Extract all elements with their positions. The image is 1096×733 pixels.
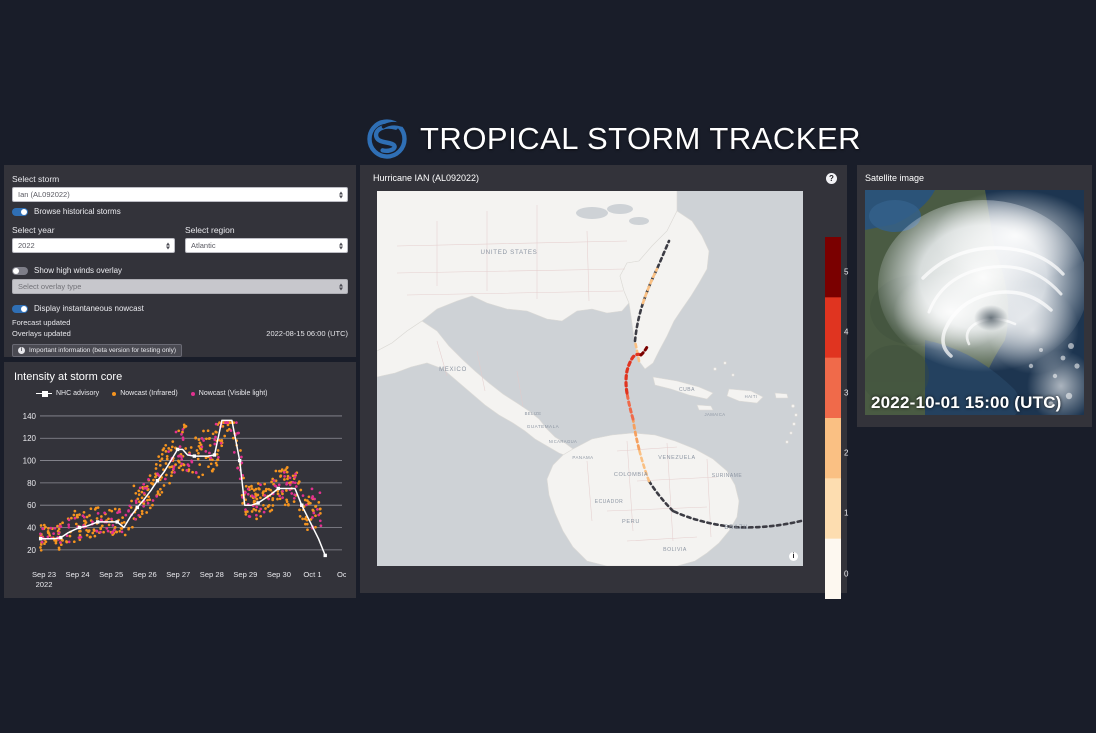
data-point [121,531,124,534]
data-point [110,510,113,513]
colorbar-bands [825,237,841,599]
app-root: TROPICAL STORM TRACKER Select storm Ian … [0,0,1096,733]
y-tick-label: 40 [27,524,36,533]
data-point [286,471,289,474]
legend-label-nowcast-infrared: Nowcast (Infrared) [120,390,178,397]
data-point [143,487,146,490]
data-point [289,476,292,479]
data-point [179,445,182,448]
data-point [216,453,219,456]
data-point [213,443,216,446]
data-point [314,526,317,529]
data-point [181,431,184,434]
data-point [251,510,254,513]
chart-y-axis-labels: 20406080100120140 [23,412,37,555]
data-point [138,493,141,496]
chart-x-axis-labels: Sep 23Sep 24Sep 25Sep 26Sep 27Sep 28Sep … [32,570,346,589]
data-point [88,529,91,532]
data-point [105,527,108,530]
data-point [239,449,242,452]
data-point [157,455,160,458]
colorbar-tick: 1 [844,509,848,518]
data-point [297,482,300,485]
data-point [208,437,211,440]
nowcast-label: Display instantaneous nowcast [34,304,144,313]
data-point [295,485,298,488]
data-point [107,517,110,520]
data-point [230,429,233,432]
nhc-advisory-marker [213,453,216,456]
data-point [99,527,102,530]
data-point [134,492,137,495]
nhc-advisory-marker [193,454,196,457]
data-point [155,467,158,470]
data-point [131,526,134,529]
data-point [181,469,184,472]
data-point [306,528,309,531]
data-point [301,518,304,521]
data-point [207,429,210,432]
svg-text:GUATEMALA: GUATEMALA [527,424,560,429]
select-year-dropdown[interactable]: 2022 [12,238,175,253]
data-point [142,483,145,486]
data-point [246,510,249,513]
y-tick-label: 20 [27,546,36,555]
select-region-dropdown[interactable]: Atlantic [185,238,348,253]
data-point [74,510,77,513]
data-point [76,514,79,517]
stepper-arrows-icon [339,283,343,290]
data-point [162,449,165,452]
data-point [220,444,223,447]
colorbar-band [825,418,841,479]
data-point [182,436,185,439]
data-point [172,468,175,471]
data-point [89,536,92,539]
data-point [78,513,81,516]
select-overlay-type-value: Select overlay type [18,282,81,291]
data-point [183,424,186,427]
svg-text:CUBA: CUBA [679,387,695,393]
data-point [175,431,178,434]
data-point [195,471,198,474]
data-point [78,536,81,539]
data-point [262,490,265,493]
legend-item-nhc-advisory[interactable]: NHC advisory [36,390,99,397]
data-point [311,488,314,491]
data-point [287,504,290,507]
data-point [311,509,314,512]
data-point [319,491,322,494]
nhc-advisory-marker [136,506,139,509]
data-point [124,534,127,537]
intensity-chart-panel: Intensity at storm core NHC advisory Now… [4,362,356,598]
data-point [299,489,302,492]
data-point [168,466,171,469]
data-point [111,532,114,535]
data-point [184,447,187,450]
data-point [152,479,155,482]
data-point [70,517,73,520]
data-point [157,490,160,493]
svg-text:VENEZUELA: VENEZUELA [658,455,695,461]
data-point [100,515,103,518]
data-point [58,525,61,528]
data-point [215,462,218,465]
data-point [78,530,81,533]
data-point [268,504,271,507]
storm-swirl-logo-icon [366,118,408,160]
x-axis-year-label: 2022 [36,580,53,589]
data-point [283,475,286,478]
data-point [257,487,260,490]
data-point [251,487,254,490]
data-point [161,457,164,460]
data-point [308,495,311,498]
x-tick-label: Sep 26 [133,570,157,579]
colorbar-band [825,478,841,539]
nhc-advisory-marker [59,536,62,539]
data-point [177,455,180,458]
data-point [58,532,61,535]
chart-title: Intensity at storm core [14,371,346,383]
x-tick-label: Sep 28 [200,570,224,579]
x-tick-label: Sep 25 [99,570,123,579]
data-point [284,468,287,471]
data-point [145,511,148,514]
nhc-advisory-marker [115,520,118,523]
data-point [283,478,286,481]
data-point [198,445,201,448]
data-point [47,527,50,530]
toggle-switch-nowcast[interactable] [12,305,28,313]
data-point [147,478,150,481]
data-point [166,458,169,461]
data-point [197,476,200,479]
data-point [137,514,140,517]
data-point [248,515,251,518]
data-point [141,497,144,500]
satellite-image[interactable]: 2022-10-01 15:00 (UTC) [865,190,1084,415]
data-point [68,541,71,544]
data-point [317,514,320,517]
data-point [165,450,168,453]
data-point [278,494,281,497]
data-point [264,507,267,510]
data-point [59,541,62,544]
data-point [254,493,257,496]
data-point [236,432,239,435]
data-point [281,490,284,493]
data-point [198,463,201,466]
data-point [236,467,239,470]
data-point [209,444,212,447]
data-point [97,512,100,515]
browse-historical-label: Browse historical storms [34,207,121,216]
svg-text:UNITED STATES: UNITED STATES [481,249,538,256]
y-tick-label: 100 [23,457,37,466]
data-point [148,498,151,501]
data-point [123,521,126,524]
data-point [298,509,301,512]
colorbar-tick: 4 [844,328,848,337]
data-point [270,481,273,484]
select-year-label: Select year [12,225,175,235]
data-point [305,504,308,507]
x-tick-label: Sep 30 [267,570,291,579]
data-point [283,471,286,474]
select-year-group: Select year 2022 [12,225,175,253]
satellite-timestamp: 2022-10-01 15:00 (UTC) [871,393,1062,413]
map-header: Hurricane IAN (AL092022) ? [360,165,847,191]
data-point [167,450,170,453]
colorbar-tick: 5 [844,267,848,276]
data-point [292,481,295,484]
svg-text:PANAMA: PANAMA [572,455,593,460]
chart-series-nowcast-infrared [39,421,322,551]
svg-text:BOLIVIA: BOLIVIA [663,547,687,553]
data-point [214,436,217,439]
data-point [114,508,117,511]
colorbar-tick: 0 [844,569,848,578]
svg-text:MEXICO: MEXICO [439,367,467,373]
data-point [217,449,220,452]
data-point [253,500,256,503]
data-point [319,519,322,522]
data-point [202,430,205,433]
data-point [93,529,96,532]
data-point [245,513,248,516]
data-point [47,530,50,533]
data-point [135,501,138,504]
stepper-arrows-icon [339,191,343,198]
data-point [185,469,188,472]
data-point [191,471,194,474]
overlays-updated-row: Overlays updated 2022-08-15 06:00 (UTC) [12,329,348,338]
data-point [271,497,274,500]
data-point [279,497,282,500]
data-point [232,437,235,440]
data-point [209,457,212,460]
data-point [171,446,174,449]
map-canvas[interactable]: UNITED STATES MEXICO CUBA HAITI JAMAICA … [377,191,803,566]
x-tick-label: Oct 2 [337,570,346,579]
data-point [259,515,262,518]
legend-line-marker-icon [36,390,52,397]
x-tick-label: Sep 23 [32,570,56,579]
data-point [205,437,208,440]
nhc-advisory-marker [324,554,327,557]
data-point [201,473,204,476]
y-tick-label: 60 [27,501,36,510]
y-tick-label: 140 [23,412,37,421]
browse-historical-toggle[interactable]: Browse historical storms [12,207,348,216]
svg-text:COLOMBIA: COLOMBIA [614,472,648,478]
data-point [41,527,44,530]
data-point [215,423,218,426]
svg-text:JAMAICA: JAMAICA [705,412,726,417]
data-point [217,456,220,459]
colorbar-band [825,539,841,599]
data-point [278,470,281,473]
data-point [286,478,289,481]
data-point [158,493,161,496]
nhc-advisory-marker [176,448,179,451]
select-region-group: Select region Atlantic [185,225,348,253]
data-point [245,485,248,488]
colorbar-tick: 2 [844,448,848,457]
data-point [180,462,183,465]
high-winds-toggle[interactable]: Show high winds overlay [12,266,348,275]
data-point [69,535,72,538]
map-colorbar: 543210 [825,237,859,599]
data-point [294,481,297,484]
data-point [289,483,292,486]
data-point [65,541,68,544]
data-point [146,499,149,502]
data-point [255,509,258,512]
data-point [58,546,61,549]
legend-label-nowcast-visible: Nowcast (Visible light) [199,390,268,397]
controls-panel: Select storm Ian (AL092022) Browse histo… [4,165,356,357]
data-point [212,432,215,435]
data-point [263,494,266,497]
select-storm-dropdown[interactable]: Ian (AL092022) [12,187,348,202]
data-point [165,462,168,465]
nhc-advisory-marker [39,537,42,540]
data-point [286,500,289,503]
toggle-switch-high-winds[interactable] [12,267,28,275]
data-point [223,435,226,438]
data-point [247,493,250,496]
data-point [164,444,167,447]
intensity-chart[interactable]: 20406080100120140 Sep 23Sep 24Sep 25Sep … [14,401,346,591]
data-point [164,478,167,481]
data-point [178,461,181,464]
data-point [40,549,43,552]
data-point [127,527,130,530]
x-tick-label: Sep 27 [166,570,190,579]
data-point [293,500,296,503]
data-point [101,524,104,527]
data-point [99,531,102,534]
nowcast-toggle[interactable]: Display instantaneous nowcast [12,304,348,313]
data-point [143,492,146,495]
data-point [43,524,46,527]
legend-item-nowcast-infrared[interactable]: Nowcast (Infrared) [112,390,178,397]
data-point [293,493,296,496]
svg-text:PERU: PERU [622,519,640,525]
data-point [242,477,245,480]
data-point [39,546,42,549]
data-point [73,514,76,517]
data-point [138,500,141,503]
data-point [180,458,183,461]
x-tick-label: Oct 1 [303,570,321,579]
data-point [299,515,302,518]
data-point [75,523,78,526]
data-point [102,531,105,534]
data-point [121,522,124,525]
data-point [155,463,158,466]
data-point [275,470,278,473]
data-point [197,458,200,461]
data-point [55,542,58,545]
important-information-button[interactable]: i Important information (beta version fo… [12,344,182,357]
colorbar-band [825,297,841,358]
legend-item-nowcast-visible[interactable]: Nowcast (Visible light) [191,390,268,397]
satellite-panel: Satellite image [857,165,1092,427]
data-point [142,505,145,508]
data-point [159,464,162,467]
forecast-updated-row: Forecast updated [12,318,348,327]
data-point [207,465,210,468]
data-point [171,471,174,474]
data-point [82,514,85,517]
data-point [267,498,270,501]
svg-text:HAITI: HAITI [745,394,758,399]
data-point [91,520,94,523]
page-title: TROPICAL STORM TRACKER [420,121,861,157]
data-point [113,529,116,532]
map-attribution-icon[interactable]: i [789,552,798,561]
toggle-switch-browse-historical[interactable] [12,208,28,216]
nhc-advisory-marker [156,479,159,482]
data-point [222,425,225,428]
nhc-advisory-marker [277,487,280,490]
nhc-advisory-marker [256,501,259,504]
data-point [259,483,262,486]
data-point [152,499,155,502]
data-point [118,510,121,513]
data-point [247,488,250,491]
data-point [141,510,144,513]
data-point [159,488,162,491]
data-point [197,452,200,455]
map-body: UNITED STATES MEXICO CUBA HAITI JAMAICA … [377,191,837,566]
data-point [240,456,243,459]
data-point [112,524,115,527]
data-point [61,521,64,524]
svg-text:BRAZIL: BRAZIL [724,525,749,531]
data-point [68,519,71,522]
data-point [173,465,176,468]
data-point [163,484,166,487]
select-storm-value: Ian (AL092022) [18,190,70,199]
data-point [110,518,113,521]
data-point [302,494,305,497]
data-point [137,490,140,493]
data-point [311,497,314,500]
data-point [279,474,282,477]
data-point [250,485,253,488]
data-point [56,525,59,528]
data-point [220,442,223,445]
data-point [161,453,164,456]
legend-dot-icon [112,392,116,396]
data-point [190,460,193,463]
data-point [139,487,142,490]
high-winds-label: Show high winds overlay [34,266,122,275]
select-overlay-type-dropdown[interactable]: Select overlay type [12,279,348,294]
nhc-advisory-marker [96,520,99,523]
data-point [94,535,97,538]
y-tick-label: 120 [23,434,37,443]
help-circle-icon[interactable]: ? [826,173,837,184]
data-point [88,514,91,517]
data-point [127,510,130,513]
stepper-arrows-icon [339,242,343,249]
